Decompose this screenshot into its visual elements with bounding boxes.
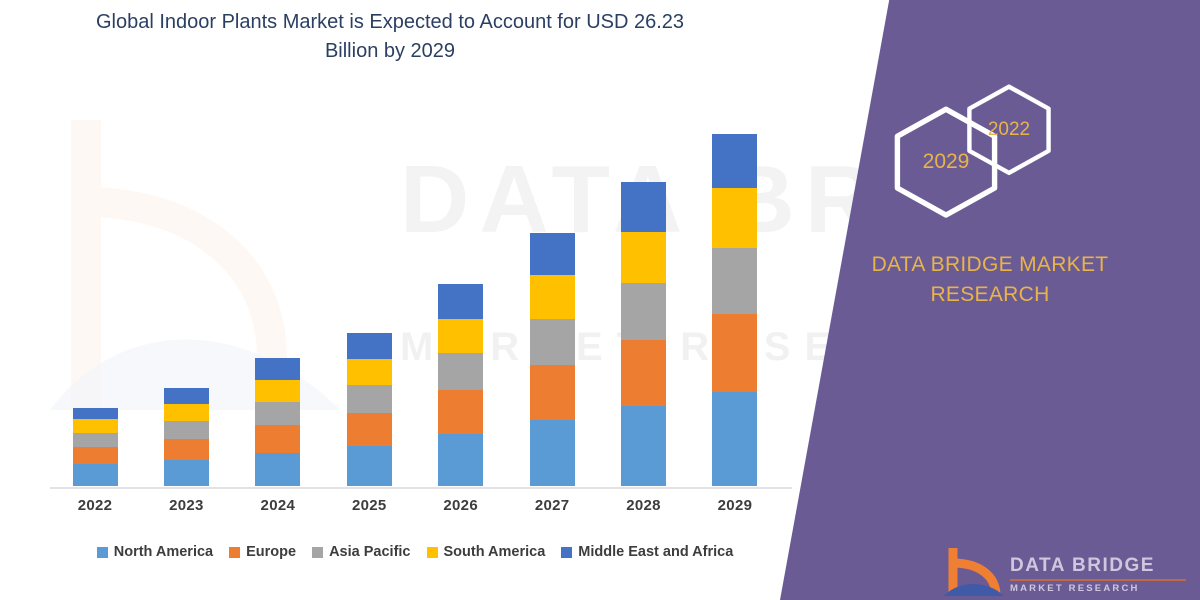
hexagon-2022-label: 2022	[988, 119, 1030, 141]
bar-segment	[530, 275, 575, 318]
legend-swatch-icon	[427, 547, 438, 558]
bar-column	[416, 120, 506, 486]
brand-line-2: RESEARCH	[820, 280, 1160, 310]
logo-line-1: DATA BRIDGE	[1010, 556, 1186, 576]
bar-segment	[73, 419, 118, 433]
legend-label: South America	[444, 544, 546, 560]
bar-segment	[438, 284, 483, 318]
legend-swatch-icon	[312, 547, 323, 558]
x-axis-label: 2023	[141, 497, 231, 523]
bar-segment	[164, 404, 209, 421]
bar-segment	[347, 333, 392, 359]
bar-segment	[255, 425, 300, 453]
stacked-bar	[73, 408, 118, 486]
x-axis-label: 2022	[50, 497, 140, 523]
bar-segment	[73, 408, 118, 419]
bar-segment	[530, 420, 575, 486]
stacked-bar	[255, 358, 300, 486]
bar-segment	[164, 388, 209, 404]
bar-column	[324, 120, 414, 486]
infographic-root: DATA BRIDGE MARKET RESEARCH Global Indoo…	[0, 0, 1200, 600]
bar-column	[599, 120, 689, 486]
legend-swatch-icon	[229, 547, 240, 558]
bar-column	[507, 120, 597, 486]
bar-segment	[621, 232, 666, 283]
stacked-bar	[530, 233, 575, 486]
bar-segment	[73, 433, 118, 447]
bar-segment	[530, 365, 575, 420]
bar-segment	[530, 233, 575, 275]
legend-item[interactable]: North America	[97, 544, 213, 560]
plot-area	[50, 120, 780, 488]
bar-segment	[621, 283, 666, 339]
bar-segment	[621, 182, 666, 232]
bar-segment	[255, 453, 300, 486]
bar-column	[141, 120, 231, 486]
legend-label: Middle East and Africa	[578, 544, 733, 560]
brand-name: DATA BRIDGE MARKET RESEARCH	[780, 250, 1200, 311]
bar-segment	[438, 319, 483, 353]
x-axis-label: 2028	[599, 497, 689, 523]
bar-segment	[712, 392, 757, 486]
bar-segment	[712, 188, 757, 248]
bar-segment	[712, 248, 757, 313]
logo-text: DATA BRIDGE MARKET RESEARCH	[1010, 556, 1186, 594]
stacked-bar	[164, 388, 209, 486]
bar-segment	[712, 134, 757, 188]
stacked-bar	[712, 134, 757, 486]
chart-panel: DATA BRIDGE MARKET RESEARCH Global Indoo…	[0, 0, 900, 600]
bar-segment	[255, 358, 300, 380]
stacked-bar	[438, 284, 483, 486]
bar-segment	[712, 314, 757, 392]
legend-item[interactable]: Europe	[229, 544, 296, 560]
legend-item[interactable]: Asia Pacific	[312, 544, 410, 560]
bar-segment	[164, 421, 209, 439]
bar-group	[50, 120, 780, 486]
bar-segment	[530, 319, 575, 365]
chart-legend: North AmericaEuropeAsia PacificSouth Ame…	[50, 540, 780, 564]
x-axis-line	[50, 487, 792, 489]
x-axis-label: 2026	[416, 497, 506, 523]
legend-swatch-icon	[97, 547, 108, 558]
bar-segment	[164, 460, 209, 486]
x-axis-labels: 20222023202420252026202720282029	[50, 497, 780, 523]
bar-segment	[255, 402, 300, 425]
bar-segment	[73, 447, 118, 464]
legend-item[interactable]: South America	[427, 544, 546, 560]
logo-line-2: MARKET RESEARCH	[1010, 584, 1186, 594]
hexagon-2029-label: 2029	[923, 150, 970, 174]
logo-divider	[1010, 579, 1186, 581]
stacked-bar	[621, 182, 666, 486]
legend-swatch-icon	[561, 547, 572, 558]
bar-segment	[347, 359, 392, 385]
legend-item[interactable]: Middle East and Africa	[561, 544, 733, 560]
company-logo: DATA BRIDGE MARKET RESEARCH	[944, 544, 1184, 598]
chart-title: Global Indoor Plants Market is Expected …	[70, 8, 710, 66]
bar-segment	[438, 353, 483, 390]
bar-segment	[164, 439, 209, 460]
legend-label: Europe	[246, 544, 296, 560]
stacked-bar	[347, 333, 392, 486]
x-axis-label: 2025	[324, 497, 414, 523]
bar-segment	[347, 446, 392, 486]
bar-segment	[621, 340, 666, 406]
bridge-logo-icon	[944, 546, 1006, 598]
bar-column	[50, 120, 140, 486]
x-axis-label: 2029	[690, 497, 780, 523]
bar-segment	[438, 434, 483, 486]
bar-segment	[347, 413, 392, 446]
bar-segment	[438, 390, 483, 434]
bar-column	[690, 120, 780, 486]
x-axis-label: 2027	[507, 497, 597, 523]
x-axis-label: 2024	[233, 497, 323, 523]
bar-segment	[255, 380, 300, 402]
bar-segment	[621, 406, 666, 486]
hexagon-2022: 2022	[965, 84, 1053, 176]
bar-segment	[347, 385, 392, 413]
bar-segment	[73, 464, 118, 486]
legend-label: North America	[114, 544, 213, 560]
bar-column	[233, 120, 323, 486]
legend-label: Asia Pacific	[329, 544, 410, 560]
brand-line-1: DATA BRIDGE MARKET	[820, 250, 1160, 280]
